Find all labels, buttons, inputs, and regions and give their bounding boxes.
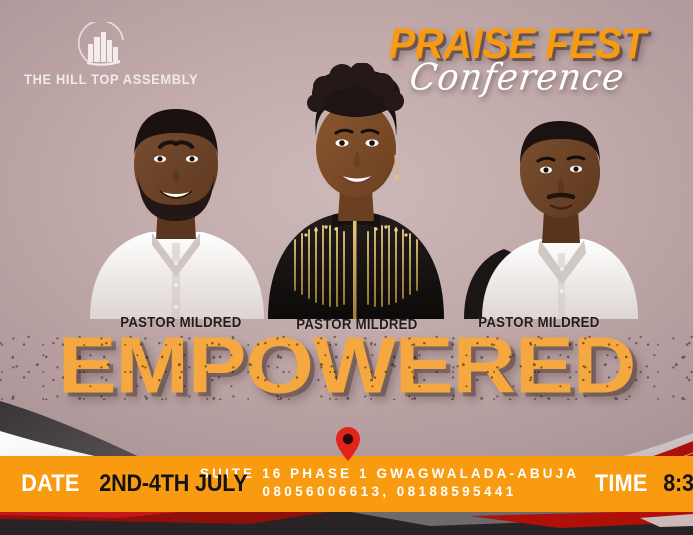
city-skyline-icon (73, 22, 133, 66)
footer-info-bar: DATE 2ND-4TH JULY SUITE 16 PHASE 1 GWAGW… (0, 456, 693, 512)
map-pin-icon (336, 427, 360, 461)
date-label: DATE (21, 470, 79, 498)
time-label: TIME (595, 470, 648, 498)
footer-date-group: DATE 2ND-4TH JULY (0, 470, 200, 498)
venue-address: SUITE 16 PHASE 1 GWAGWALADA-ABUJA (200, 465, 579, 483)
footer-time-group: TIME 8:30AM (579, 470, 693, 498)
footer-venue-group: SUITE 16 PHASE 1 GWAGWALADA-ABUJA 080560… (200, 465, 579, 503)
brand-name: THE HILL TOP ASSEMBLY (24, 72, 181, 87)
contact-phones: 08056006613, 08188595441 (200, 483, 579, 501)
time-value: 8:30AM (663, 470, 693, 498)
brand-logo-block: THE HILL TOP ASSEMBLY (20, 22, 185, 87)
speaker-portrait-right (456, 97, 654, 319)
date-value: 2ND-4TH JULY (99, 470, 247, 498)
event-title-script: Conference (364, 57, 670, 99)
speaker-portrait-center (246, 63, 466, 319)
event-title-block: PRAISE FEST Conference (367, 24, 667, 98)
footer-accent-strip (0, 510, 693, 535)
event-flyer: THE HILL TOP ASSEMBLY PRAISE FEST Confer… (0, 0, 693, 535)
